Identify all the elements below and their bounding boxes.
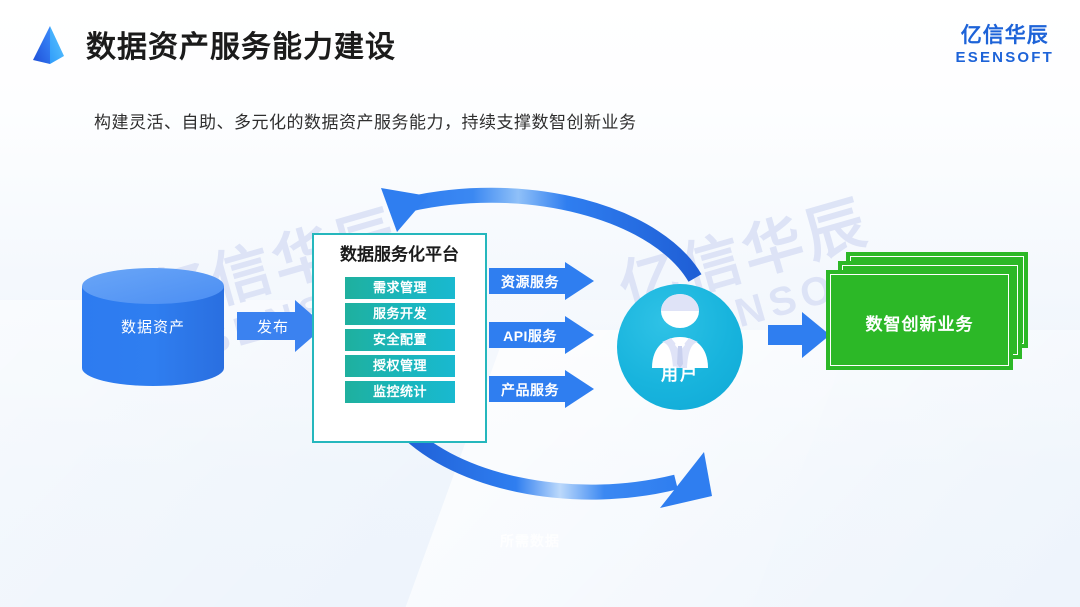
service-arrow-label: 资源服务 — [489, 272, 571, 292]
service-arrow-label: 产品服务 — [489, 380, 571, 400]
platform-item-2[interactable]: 安全配置 — [345, 329, 455, 351]
service-arrow-2[interactable]: 产品服务 — [489, 370, 594, 408]
slide-canvas: 亿信华辰 ESENSOFT 亿信华辰 ESENSOFT 数据资产服务能力建设 亿… — [0, 0, 1080, 607]
platform-item-0[interactable]: 需求管理 — [345, 277, 455, 299]
data-asset-label: 数据资产 — [80, 316, 226, 337]
platform-item-4[interactable]: 监控统计 — [345, 381, 455, 403]
platform-item-1[interactable]: 服务开发 — [345, 303, 455, 325]
service-arrow-1[interactable]: API服务 — [489, 316, 594, 354]
platform-item-list: 需求管理 服务开发 安全配置 授权管理 监控统计 — [345, 277, 455, 403]
service-arrow-0[interactable]: 资源服务 — [489, 262, 594, 300]
outcome-arrow — [768, 312, 830, 358]
arc-caption-text: 所需数据 — [470, 531, 590, 551]
person-suit-icon — [640, 294, 720, 368]
publish-arrow-label: 发布 — [237, 316, 309, 337]
outcome-label: 数智创新业务 — [826, 310, 1013, 335]
platform-title: 数据服务化平台 — [312, 240, 487, 265]
service-arrow-label: API服务 — [489, 326, 571, 346]
platform-item-3[interactable]: 授权管理 — [345, 355, 455, 377]
user-label: 用户 — [617, 360, 743, 385]
